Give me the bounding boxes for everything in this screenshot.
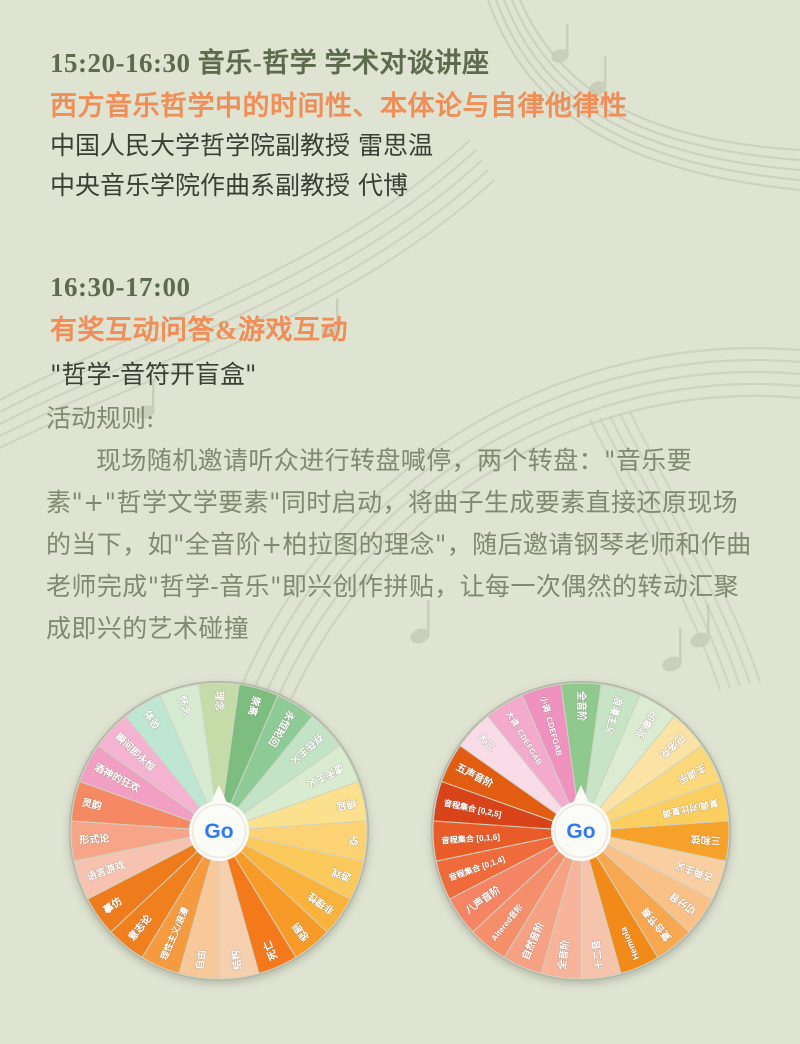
- go-button-label[interactable]: Go: [566, 820, 595, 843]
- session-1-speaker-2: 中央音乐学院作曲系副教授 代博: [50, 166, 628, 206]
- session-2-time: 16:30-17:00: [50, 268, 348, 306]
- philosophy-literature-wheel-graphic[interactable]: 理念崇高永恒轮回存在主义虚无主义绵延空游戏非理性悲剧死亡结构自由理性主义/浪漫意…: [66, 678, 372, 984]
- session-2-subtitle: "哲学-音符开盲盒": [50, 354, 348, 396]
- session-2: 16:30-17:00 有奖互动问答&游戏互动 "哲学-音符开盲盒": [50, 268, 348, 396]
- wheel-segment-label: 理念: [213, 691, 226, 711]
- session-2-title: 有奖互动问答&游戏互动: [50, 310, 348, 350]
- wheel-segment-label: 空: [348, 834, 359, 848]
- philosophy-literature-wheel[interactable]: 理念崇高永恒轮回存在主义虚无主义绵延空游戏非理性悲剧死亡结构自由理性主义/浪漫意…: [66, 678, 372, 984]
- music-elements-wheel-graphic[interactable]: 全音阶浪漫主义印象派巴洛克主调乐复调/对比复调三和弦古典主义切分音复合节奏Hem…: [428, 678, 734, 984]
- session-1-time: 15:20-16:30 音乐-哲学 学术对谈讲座: [50, 44, 628, 82]
- music-elements-wheel[interactable]: 全音阶浪漫主义印象派巴洛克主调乐复调/对比复调三和弦古典主义切分音复合节奏Hem…: [428, 678, 734, 984]
- rules-body: 现场随机邀请听众进行转盘喊停，两个转盘："音乐要素"+"哲学文学要素"同时启动，…: [46, 440, 762, 650]
- session-1-title: 西方音乐哲学中的时间性、本体论与自律他律性: [50, 86, 628, 126]
- spinner-wheels: 理念崇高永恒轮回存在主义虚无主义绵延空游戏非理性悲剧死亡结构自由理性主义/浪漫意…: [0, 676, 800, 1044]
- activity-rules: 活动规则: 现场随机邀请听众进行转盘喊停，两个转盘："音乐要素"+"哲学文学要素…: [46, 398, 762, 650]
- rules-heading: 活动规则:: [46, 398, 762, 440]
- go-button-label[interactable]: Go: [204, 820, 233, 843]
- session-1-speaker-1: 中国人民大学哲学院副教授 雷思温: [50, 126, 628, 166]
- session-1: 15:20-16:30 音乐-哲学 学术对谈讲座 西方音乐哲学中的时间性、本体论…: [50, 44, 628, 206]
- wheel-segment-label: 全音阶: [575, 690, 588, 722]
